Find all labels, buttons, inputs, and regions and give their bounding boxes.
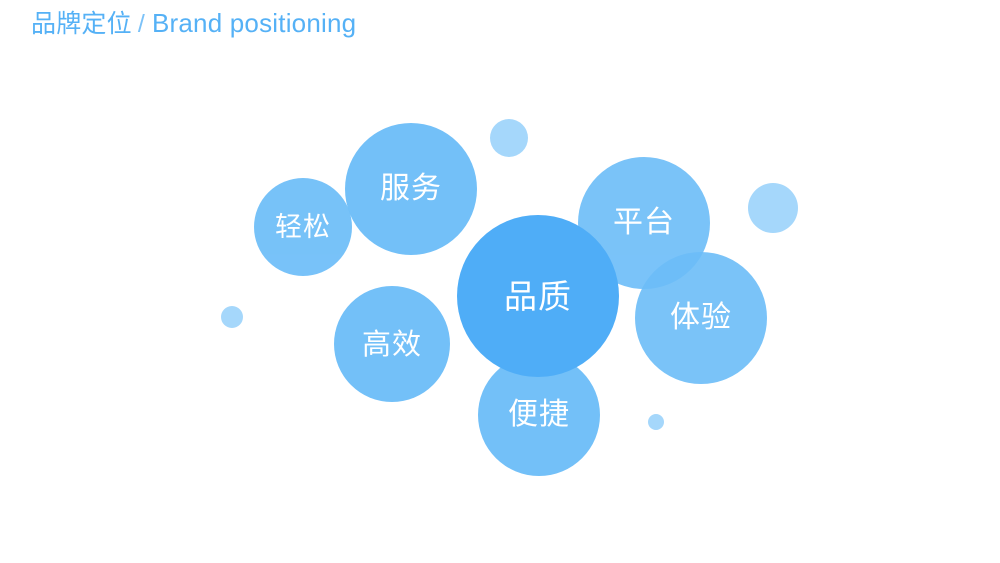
bubble-label: 便捷 — [508, 400, 570, 430]
bubble-label: 轻松 — [275, 214, 331, 241]
bubble-label: 服务 — [380, 174, 442, 204]
bubble-6[interactable]: 品质 — [457, 215, 619, 377]
dot-top-center — [490, 119, 528, 157]
bubble-label: 体验 — [670, 303, 732, 333]
bubble-3[interactable]: 体验 — [635, 252, 767, 384]
bubble-cloud-diagram: 轻松服务平台体验高效便捷品质 — [0, 0, 1000, 563]
dot-right — [748, 183, 798, 233]
dot-bottom-right — [648, 414, 664, 430]
bubble-1[interactable]: 服务 — [345, 123, 477, 255]
bubble-4[interactable]: 高效 — [334, 286, 450, 402]
bubble-label: 品质 — [504, 280, 572, 313]
bubble-label: 高效 — [362, 330, 422, 359]
dot-left — [221, 306, 243, 328]
bubble-0[interactable]: 轻松 — [254, 178, 352, 276]
slide-canvas: 品牌定位/Brand positioning 轻松服务平台体验高效便捷品质 — [0, 0, 1000, 563]
bubble-label: 平台 — [613, 208, 675, 238]
